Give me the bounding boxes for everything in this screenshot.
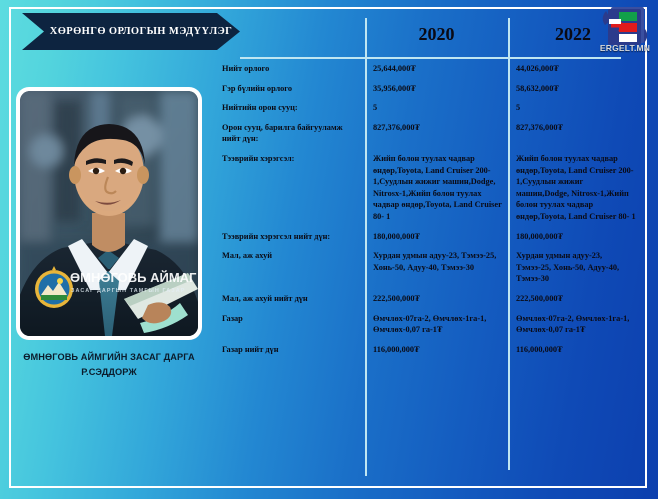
table-row: Нийт орлого 25,644,000₮ 44,026,000₮ <box>214 59 644 79</box>
row-value-2020: 827,376,000₮ <box>365 118 508 149</box>
row-label: Тээврийн хэрэгсэл нийт дүн: <box>214 227 365 247</box>
table-row: Нийтийн орон сууц: 5 5 <box>214 98 644 118</box>
row-label: Газар нийт дүн <box>214 340 365 360</box>
row-value-2022: 58,632,000₮ <box>508 79 644 99</box>
slide-canvas: ХӨРӨНГӨ ОРЛОГЫН МЭДҮҮЛЭГ ERGELT.MN <box>0 0 658 499</box>
row-value-2020: Өмчлөх-07га-2, Өмчлөх-1га-1, Өмчлөх-0,07… <box>365 309 508 340</box>
table-row: Гэр бүлийн орлого 35,956,000₮ 58,632,000… <box>214 79 644 99</box>
table-row: Газар Өмчлөх-07га-2, Өмчлөх-1га-1, Өмчлө… <box>214 309 644 340</box>
row-label: Тээврийн хэрэгсэл: <box>214 149 365 227</box>
table-row: Тээврийн хэрэгсэл нийт дүн: 180,000,000₮… <box>214 227 644 247</box>
portrait-caption-line1: ӨМНӨГОВЬ АЙМГИЙН ЗАСАГ ДАРГА <box>8 350 210 365</box>
row-value-2022: 827,376,000₮ <box>508 118 644 149</box>
row-value-2022: 180,000,000₮ <box>508 227 644 247</box>
row-label: Газар <box>214 309 365 340</box>
row-label: Нийтийн орон сууц: <box>214 98 365 118</box>
table-body: Нийт орлого 25,644,000₮ 44,026,000₮ Гэр … <box>214 59 644 359</box>
row-label: Нийт орлого <box>214 59 365 79</box>
portrait-caption: ӨМНӨГОВЬ АЙМГИЙН ЗАСАГ ДАРГА Р.СЭДДОРЖ <box>8 350 210 380</box>
portrait-card: ӨМНӨГОВЬ АЙМАГ ЗАСАГ ДАРГЫН ТАМГЫН ГАЗАР <box>16 87 202 340</box>
table-row: Орон сууц, барилга байгууламж нийт дүн: … <box>214 118 644 149</box>
row-value-2020: Жийп болон туулах чадвар өндөр,Toyota, L… <box>365 149 508 227</box>
column-header-2020: 2020 <box>365 24 508 45</box>
row-value-2020: 35,956,000₮ <box>365 79 508 99</box>
row-value-2020: 25,644,000₮ <box>365 59 508 79</box>
row-value-2020: 116,000,000₮ <box>365 340 508 360</box>
income-declaration-table: 2020 2022 Нийт орлого 25,644,000₮ 44,026… <box>214 18 644 483</box>
row-value-2022: 222,500,000₮ <box>508 289 644 309</box>
row-value-2020: 222,500,000₮ <box>365 289 508 309</box>
portrait-photo: ӨМНӨГОВЬ АЙМАГ ЗАСАГ ДАРГЫН ТАМГЫН ГАЗАР <box>20 91 198 336</box>
svg-text:ЗАСАГ ДАРГЫН ТАМГЫН ГАЗАР: ЗАСАГ ДАРГЫН ТАМГЫН ГАЗАР <box>71 288 185 294</box>
row-label: Орон сууц, барилга байгууламж нийт дүн: <box>214 118 365 149</box>
table-row: Мал, аж ахуй нийт дүн 222,500,000₮ 222,5… <box>214 289 644 309</box>
row-label: Гэр бүлийн орлого <box>214 79 365 99</box>
row-value-2022: 116,000,000₮ <box>508 340 644 360</box>
title-banner: ХӨРӨНГӨ ОРЛОГЫН МЭДҮҮЛЭГ <box>22 13 240 50</box>
table-row: Мал, аж ахуй Хурдан удмын адуу-23, Тэмээ… <box>214 246 644 289</box>
title-banner-label: ХӨРӨНГӨ ОРЛОГЫН МЭДҮҮЛЭГ <box>30 26 233 37</box>
column-header-2022: 2022 <box>508 24 638 45</box>
portrait-image: ӨМНӨГОВЬ АЙМАГ ЗАСАГ ДАРГЫН ТАМГЫН ГАЗАР <box>20 91 198 336</box>
row-value-2020: Хурдан удмын адуу-23, Тэмээ-25, Хонь-50,… <box>365 246 508 289</box>
row-value-2022: Хурдан удмын адуу-23, Тэмээ-25, Хонь-50,… <box>508 246 644 289</box>
table-row: Тээврийн хэрэгсэл: Жийп болон туулах чад… <box>214 149 644 227</box>
table-header: 2020 2022 <box>214 18 644 57</box>
row-label: Мал, аж ахуй нийт дүн <box>214 289 365 309</box>
row-value-2022: 5 <box>508 98 644 118</box>
row-value-2020: 180,000,000₮ <box>365 227 508 247</box>
table-row: Газар нийт дүн 116,000,000₮ 116,000,000₮ <box>214 340 644 360</box>
row-value-2022: Жийп болон туулах чадвар өндөр,Toyota, L… <box>508 149 644 227</box>
row-value-2020: 5 <box>365 98 508 118</box>
row-label: Мал, аж ахуй <box>214 246 365 289</box>
svg-text:ӨМНӨГОВЬ АЙМАГ: ӨМНӨГОВЬ АЙМАГ <box>70 270 197 285</box>
row-value-2022: 44,026,000₮ <box>508 59 644 79</box>
row-value-2022: Өмчлөх-07га-2, Өмчлөх-1га-1, Өмчлөх-0,07… <box>508 309 644 340</box>
portrait-caption-line2: Р.СЭДДОРЖ <box>8 365 210 380</box>
